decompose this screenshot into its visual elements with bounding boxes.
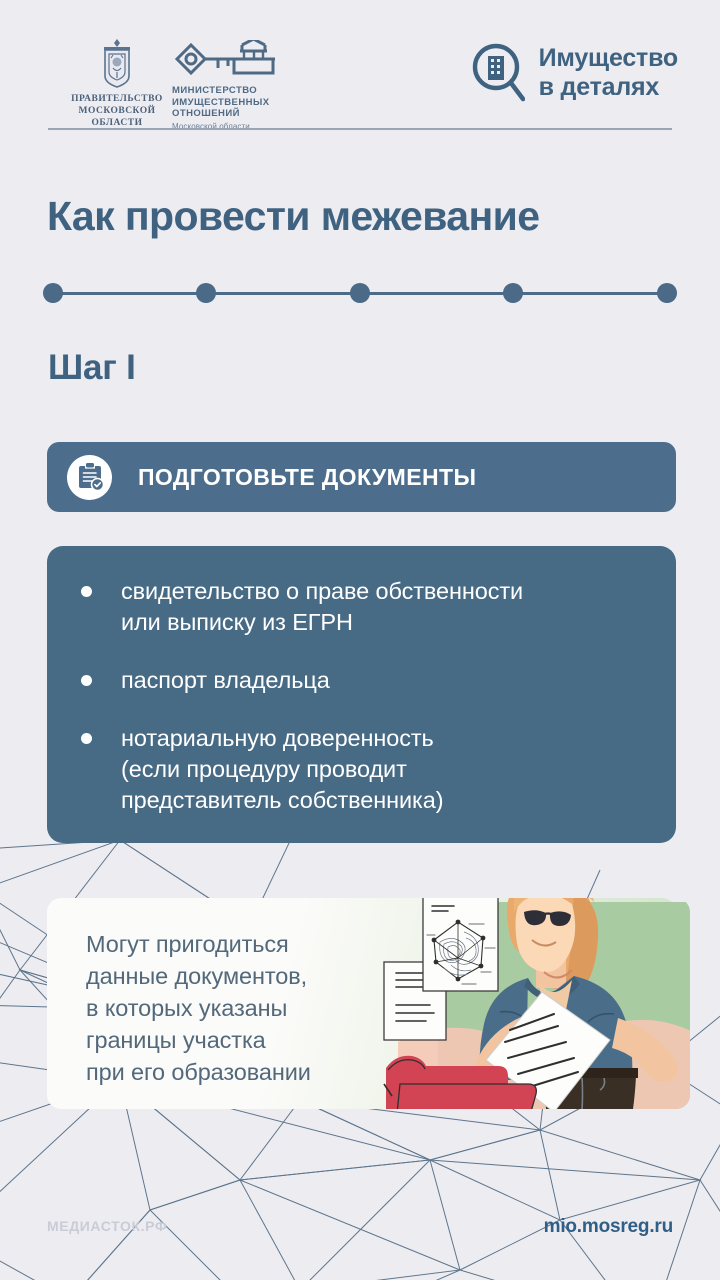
government-logo: ПРАВИТЕЛЬСТВО МОСКОВСКОЙ ОБЛАСТИ [42, 38, 192, 129]
progress-dot-1[interactable] [43, 283, 63, 303]
page-header: ПРАВИТЕЛЬСТВО МОСКОВСКОЙ ОБЛАСТИ [0, 0, 720, 135]
info-card-text: Могут пригодиться данные документов, в к… [86, 928, 386, 1088]
step-progress-indicator [43, 283, 677, 305]
brand-block: Имущество в деталях [471, 42, 678, 104]
moscow-region-coat-of-arms [96, 38, 138, 88]
bullet-dot-icon [81, 586, 92, 597]
step-bar-title: ПОДГОТОВЬТЕ ДОКУМЕНТЫ [138, 464, 476, 491]
progress-dot-2[interactable] [196, 283, 216, 303]
progress-dot-4[interactable] [503, 283, 523, 303]
infographic-page: ПРАВИТЕЛЬСТВО МОСКОВСКОЙ ОБЛАСТИ [0, 0, 720, 1280]
ministry-line-2: ИМУЩЕСТВЕННЫХ [172, 97, 307, 109]
ministry-line-1: МИНИСТЕРСТВО [172, 85, 307, 97]
progress-dot-3[interactable] [350, 283, 370, 303]
brand-line-1: Имущество [539, 44, 678, 73]
magnifier-building-icon [471, 42, 525, 104]
step-label: Шаг I [48, 348, 136, 388]
gov-logo-line-2: МОСКОВСКОЙ [42, 105, 192, 117]
step-header-bar: ПОДГОТОВЬТЕ ДОКУМЕНТЫ [47, 442, 676, 512]
list-item: нотариальную доверенность (если процедур… [81, 723, 642, 816]
header-divider [48, 128, 672, 130]
list-item-text: нотариальную доверенность (если процедур… [121, 723, 443, 816]
bullet-dot-icon [81, 675, 92, 686]
clipboard-check-badge [67, 455, 112, 500]
list-item: паспорт владельца [81, 665, 642, 696]
key-building-icon [172, 40, 292, 82]
bullet-dot-icon [81, 733, 92, 744]
woman-with-documents-illustration [378, 862, 694, 1154]
list-item: свидетельство о праве обственности или в… [81, 576, 642, 638]
ministry-line-3: ОТНОШЕНИЙ [172, 108, 307, 120]
page-title: Как провести межевание [47, 192, 687, 240]
documents-list-card: свидетельство о праве обственности или в… [47, 546, 676, 843]
clipboard-check-icon [76, 462, 104, 492]
progress-dot-5[interactable] [657, 283, 677, 303]
footer-website-link[interactable]: mio.mosreg.ru [544, 1216, 673, 1238]
footer-watermark: МЕДИАСТОК.РФ [47, 1218, 167, 1234]
list-item-text: паспорт владельца [121, 665, 330, 696]
ministry-logo: МИНИСТЕРСТВО ИМУЩЕСТВЕННЫХ ОТНОШЕНИЙ Мос… [172, 40, 307, 131]
list-item-text: свидетельство о праве обственности или в… [121, 576, 523, 638]
brand-line-2: в деталях [539, 73, 678, 102]
gov-logo-line-1: ПРАВИТЕЛЬСТВО [42, 93, 192, 105]
